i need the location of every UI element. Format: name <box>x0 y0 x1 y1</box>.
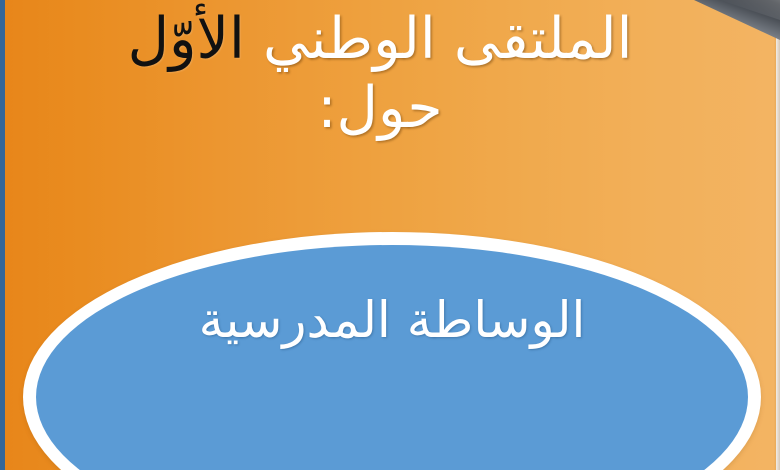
title-line-primary: الملتقى الوطني الأوّل <box>0 6 760 73</box>
ellipse-label-text: الوساطة المدرسية <box>23 232 761 408</box>
topic-ellipse: الوساطة المدرسية <box>23 232 761 470</box>
title-line-secondary: حول: <box>0 75 760 141</box>
title-main-text: الملتقى الوطني <box>263 6 632 72</box>
slide-heading: الملتقى الوطني الأوّل حول: <box>0 6 760 141</box>
presentation-slide: الملتقى الوطني الأوّل حول: الوساطة المدر… <box>0 0 780 470</box>
right-edge-shadow <box>774 0 780 470</box>
title-ordinal-text: الأوّل <box>128 6 245 72</box>
